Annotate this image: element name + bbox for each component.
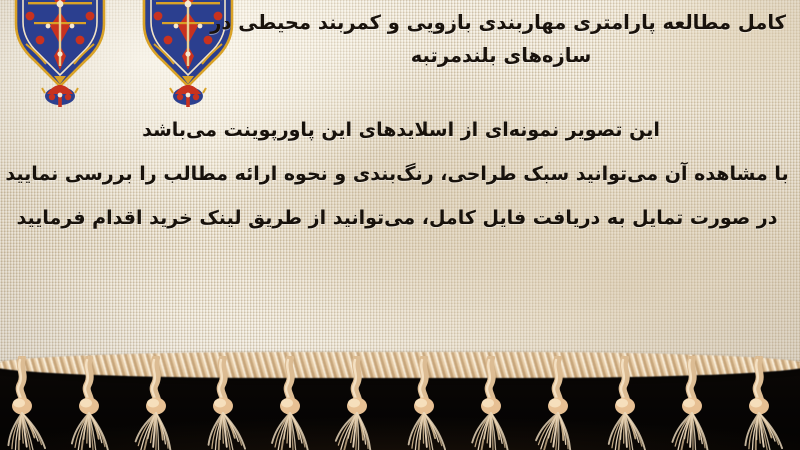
fringe-knot	[262, 356, 318, 450]
slide-title-line-2: سازه‌های بلندمرتبه	[216, 39, 786, 72]
fringe-knot	[329, 356, 385, 450]
fringe-knot	[463, 356, 519, 450]
fringe-knot	[0, 356, 50, 450]
slide-title-line-1: کامل مطالعه پارامتری مهاربندی بازویی و ک…	[216, 6, 786, 39]
carpet-fringe	[0, 356, 800, 450]
fringe-knot	[195, 356, 251, 450]
persian-medallion-pendant-left-icon	[14, 0, 106, 114]
fringe-knot	[61, 356, 117, 450]
presentation-slide: کامل مطالعه پارامتری مهاربندی بازویی و ک…	[0, 0, 800, 450]
fringe-knot	[128, 356, 184, 450]
slide-title: کامل مطالعه پارامتری مهاربندی بازویی و ک…	[216, 6, 786, 72]
slide-body: این تصویر نمونه‌ای از اسلایدهای این پاور…	[4, 108, 790, 240]
fringe-knot	[731, 356, 787, 450]
fringe-knot	[664, 356, 720, 450]
slide-body-line-3: در صورت تمایل به دریافت فایل کامل، می‌تو…	[4, 196, 790, 240]
fringe-knot	[396, 356, 452, 450]
fringe-knot	[597, 356, 653, 450]
slide-body-line-1: این تصویر نمونه‌ای از اسلایدهای این پاور…	[4, 108, 790, 152]
slide-body-line-2: با مشاهده آن می‌توانید سبک طراحی، رنگ‌بن…	[4, 152, 790, 196]
fringe-knot	[530, 356, 586, 450]
